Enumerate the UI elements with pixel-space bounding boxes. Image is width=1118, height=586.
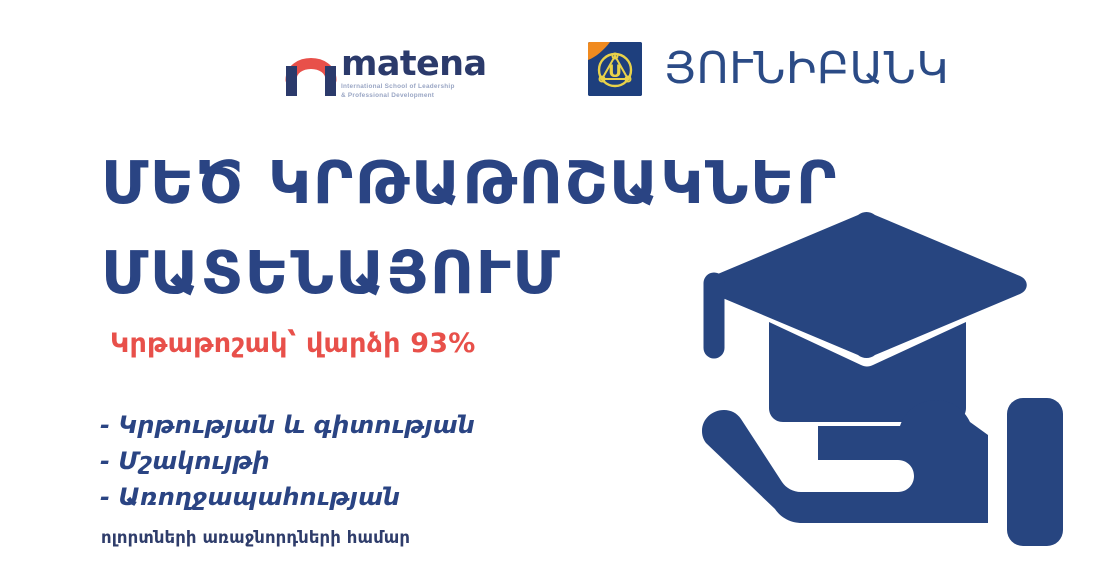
matena-m-monogram-icon	[283, 46, 339, 98]
bullet-list: - Կրթության և գիտության - Մշակույթի - Առ…	[100, 407, 520, 515]
matena-text-block: matena International School of Leadershi…	[341, 44, 487, 100]
logo-row: matena International School of Leadershi…	[0, 40, 1118, 110]
footnote-text: ոլորտների առաջնորդների համար	[101, 528, 410, 547]
svg-text:U: U	[608, 62, 622, 82]
list-item: - Մշակույթի	[100, 443, 520, 479]
headline: ՄԵԾ ԿՐԹԱԹՈՇԱԿՆԵՐ ՄԱՏԵՆԱՅՈՒՄ	[101, 138, 741, 318]
unibank-u-emblem-icon: U	[588, 42, 642, 96]
graduation-cap-icon	[706, 212, 1027, 422]
unibank-wordmark: ՅՈՒՆԻԲԱՆԿ	[664, 44, 949, 94]
matena-wordmark: matena	[341, 46, 487, 82]
unibank-logo[interactable]: U ՅՈՒՆԻԲԱՆԿ	[588, 42, 949, 96]
scholarship-banner: matena International School of Leadershi…	[0, 0, 1118, 586]
matena-tagline: International School of Leadership & Pro…	[341, 83, 471, 100]
scholarship-note: Կրթաթոշակ՝ վարձի 93%	[110, 328, 476, 359]
list-item: - Առողջապահության	[100, 479, 520, 515]
headline-line-1: ՄԵԾ ԿՐԹԱԹՈՇԱԿՆԵՐ	[101, 138, 760, 228]
list-item: - Կրթության և գիտության	[100, 407, 520, 443]
illustration	[690, 180, 1118, 570]
matena-logo[interactable]: matena International School of Leadershi…	[283, 44, 487, 100]
headline-line-2: ՄԱՏԵՆԱՅՈՒՄ	[101, 228, 760, 318]
